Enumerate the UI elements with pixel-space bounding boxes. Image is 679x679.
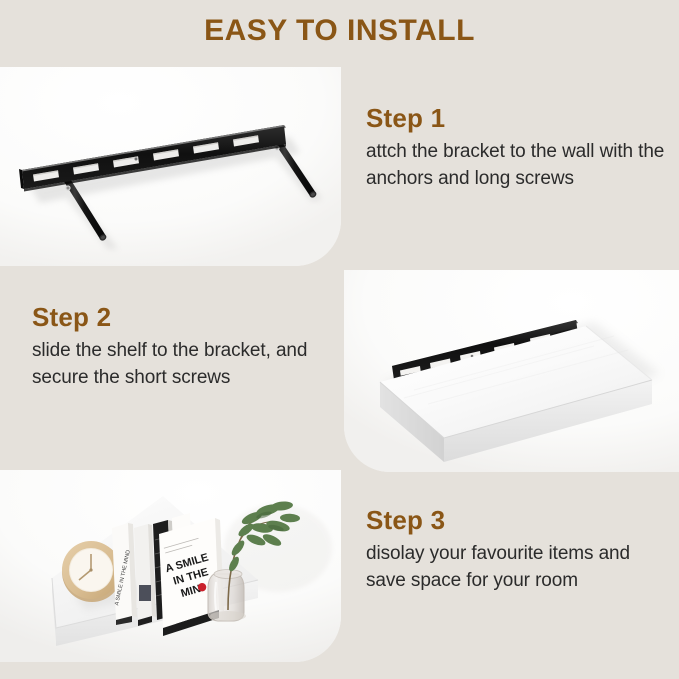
shelf-on-bracket-photo [344,270,679,472]
step-2-heading: Step 2 [32,303,332,332]
wall-bracket-photo [0,67,341,266]
page-title: EASY TO INSTALL [0,14,679,48]
step-3-heading: Step 3 [366,506,671,535]
styled-shelf-photo: A SMILE IN THE MIND [0,470,341,662]
instruction-infographic: EASY TO INSTALL [0,0,679,679]
step-2-image-panel [344,270,679,472]
book-stack: A SMILE IN THE MIND [112,513,224,636]
step-2-text: Step 2 slide the shelf to the bracket, a… [32,303,332,392]
step-1-text: Step 1 attch the bracket to the wall wit… [366,104,666,193]
step-1-heading: Step 1 [366,104,666,133]
step-1-description: attch the bracket to the wall with the a… [366,139,666,193]
glass-vase [208,570,246,622]
step-3-image-panel: A SMILE IN THE MIND [0,470,341,662]
step-2-description: slide the shelf to the bracket, and secu… [32,338,332,392]
step-3-description: disolay your favourite items and save sp… [366,541,671,595]
step-3-text: Step 3 disolay your favourite items and … [366,506,671,595]
step-1-image-panel [0,67,341,266]
